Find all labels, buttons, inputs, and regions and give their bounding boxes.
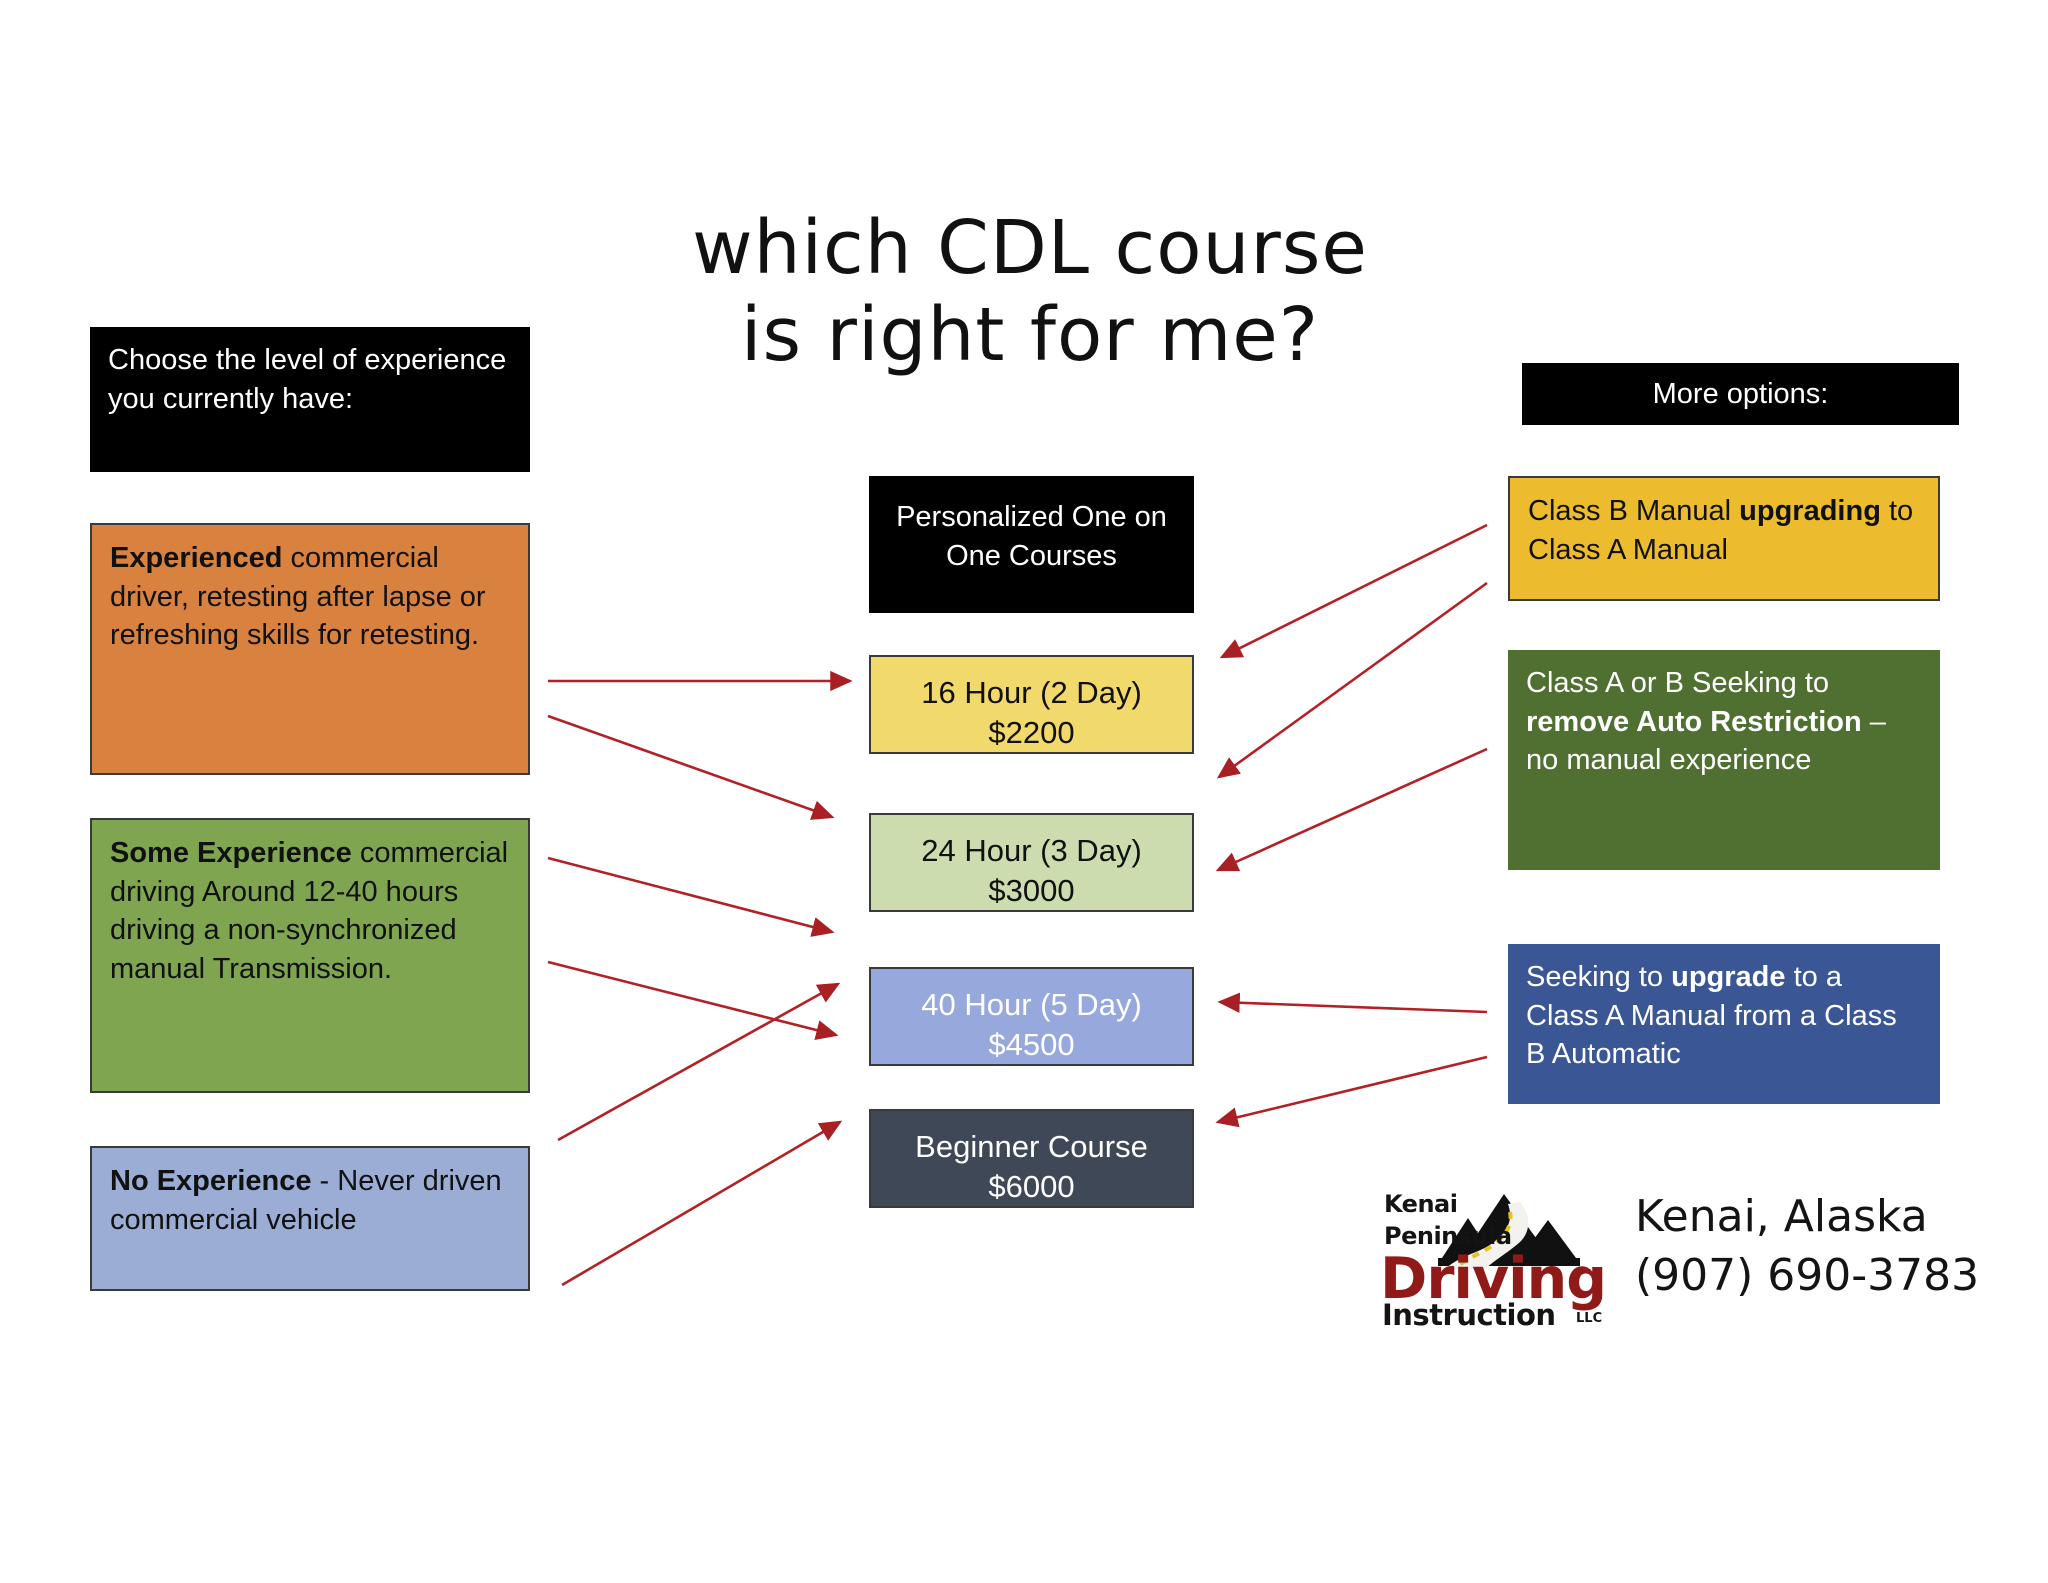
arrow-noexp-to-40hour xyxy=(558,984,838,1140)
arrow-classbupgrade-to-16hour xyxy=(1222,525,1487,657)
course-24-hour-price: $3000 xyxy=(879,871,1184,911)
option-no-experience[interactable]: No Experience - Never driven commercial … xyxy=(90,1146,530,1291)
more-option-3-bold: upgrade xyxy=(1671,961,1785,993)
option-some-experience-lead: Some Experience xyxy=(110,837,352,869)
course-beginner-name: Beginner Course xyxy=(879,1127,1184,1167)
option-no-experience-lead: No Experience xyxy=(110,1165,311,1197)
contact-info: Kenai, Alaska (907) 690-3783 xyxy=(1635,1188,1979,1305)
course-16-hour-name: 16 Hour (2 Day) xyxy=(879,673,1184,713)
contact-phone[interactable]: (907) 690-3783 xyxy=(1635,1247,1979,1306)
logo-wordmark: Kenai Peninsula Driving Instruction LLC xyxy=(1380,1180,1620,1325)
logo-line-kenai: Kenai xyxy=(1384,1190,1457,1218)
course-beginner[interactable]: Beginner Course $6000 xyxy=(869,1109,1194,1208)
more-option-upgrade-class-a-manual[interactable]: Seeking to upgrade to a Class A Manual f… xyxy=(1508,944,1940,1104)
logo-line-llc: LLC xyxy=(1576,1311,1602,1326)
left-column-header: Choose the level of experience you curre… xyxy=(90,327,530,472)
more-option-remove-auto-restriction[interactable]: Class A or B Seeking to remove Auto Rest… xyxy=(1508,650,1940,870)
course-16-hour[interactable]: 16 Hour (2 Day) $2200 xyxy=(869,655,1194,754)
more-option-1-pre: Class B Manual xyxy=(1528,495,1739,527)
course-24-hour-name: 24 Hour (3 Day) xyxy=(879,831,1184,871)
page-title-line-2: is right for me? xyxy=(600,292,1460,379)
course-16-hour-price: $2200 xyxy=(879,713,1184,753)
arrow-someexp-to-beginner xyxy=(548,962,836,1035)
right-column-header: More options: xyxy=(1522,363,1959,425)
logo-line-instruction: Instruction xyxy=(1382,1298,1556,1332)
arrow-upgradeclassa-to-beginner xyxy=(1218,1057,1487,1122)
course-40-hour[interactable]: 40 Hour (5 Day) $4500 xyxy=(869,967,1194,1066)
page-title: which CDL course is right for me? xyxy=(600,205,1460,380)
arrow-removeauto-to-24hour xyxy=(1219,583,1487,777)
arrow-removeauto-to-40hour xyxy=(1218,749,1487,870)
logo-block: Kenai Peninsula Driving Instruction LLC … xyxy=(1380,1180,2000,1340)
contact-location: Kenai, Alaska xyxy=(1635,1188,1979,1247)
option-experienced[interactable]: Experienced commercial driver, retesting… xyxy=(90,523,530,775)
page-title-line-1: which CDL course xyxy=(600,205,1460,292)
more-option-2-pre: Class A or B Seeking to xyxy=(1526,667,1829,699)
more-option-3-pre: Seeking to xyxy=(1526,961,1671,993)
center-column-header: Personalized One on One Courses xyxy=(869,476,1194,613)
course-40-hour-name: 40 Hour (5 Day) xyxy=(879,985,1184,1025)
more-option-class-b-manual-upgrade[interactable]: Class B Manual upgrading to Class A Manu… xyxy=(1508,476,1940,601)
option-experienced-lead: Experienced xyxy=(110,542,282,574)
more-option-2-bold: remove Auto Restriction xyxy=(1526,706,1862,738)
course-40-hour-price: $4500 xyxy=(879,1025,1184,1065)
infographic-canvas: which CDL course is right for me? xyxy=(0,0,2048,1583)
more-option-1-bold: upgrading xyxy=(1739,495,1881,527)
arrow-experienced-to-24hour xyxy=(548,716,832,817)
option-some-experience[interactable]: Some Experience commercial driving Aroun… xyxy=(90,818,530,1093)
course-24-hour[interactable]: 24 Hour (3 Day) $3000 xyxy=(869,813,1194,912)
arrow-someexp-to-40hour xyxy=(548,858,832,932)
arrow-noexp-to-beginner xyxy=(562,1122,840,1285)
course-beginner-price: $6000 xyxy=(879,1167,1184,1207)
arrow-upgradeclassa-to-40hour xyxy=(1220,1002,1487,1012)
